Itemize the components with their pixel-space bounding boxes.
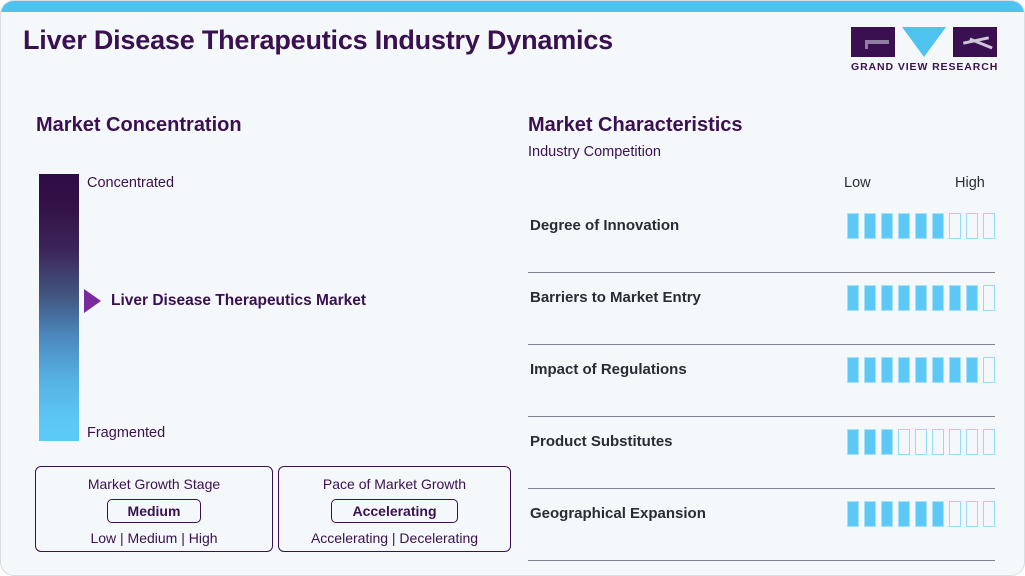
meter-scale-low-label: Low <box>844 175 871 191</box>
meter-segment-filled <box>915 213 927 239</box>
meter-segment-empty <box>983 213 995 239</box>
top-accent-bar <box>1 1 1025 12</box>
meter-segment-filled <box>847 357 859 383</box>
characteristic-label: Geographical Expansion <box>530 505 706 522</box>
meter-segment-filled <box>932 357 944 383</box>
meter-segment-filled <box>881 213 893 239</box>
r-square-icon <box>953 27 997 57</box>
meter-segment-empty <box>983 357 995 383</box>
meter-segment-filled <box>898 213 910 239</box>
characteristics-list: Degree of InnovationBarriers to Market E… <box>528 201 995 561</box>
meter-segment-filled <box>898 285 910 311</box>
market-concentration-heading: Market Concentration <box>36 114 242 137</box>
meter-segment-filled <box>898 357 910 383</box>
meter-segment-filled <box>847 213 859 239</box>
growth-stage-value: Medium <box>107 499 202 523</box>
concentration-gradient-scale <box>39 174 79 441</box>
logo-marks <box>851 27 997 57</box>
meter-segment-empty <box>915 429 927 455</box>
meter-segment-filled <box>847 501 859 527</box>
meter-segment-filled <box>932 501 944 527</box>
characteristic-row: Barriers to Market Entry <box>528 273 995 345</box>
meter-segment-filled <box>898 501 910 527</box>
characteristic-meter <box>847 285 995 311</box>
meter-segment-empty <box>898 429 910 455</box>
market-position-label: Liver Disease Therapeutics Market <box>111 292 366 310</box>
meter-segment-empty <box>983 429 995 455</box>
growth-stage-title: Market Growth Stage <box>36 475 272 493</box>
meter-segment-empty <box>966 429 978 455</box>
meter-segment-filled <box>915 501 927 527</box>
characteristic-meter <box>847 501 995 527</box>
meter-segment-filled <box>932 213 944 239</box>
characteristic-label: Barriers to Market Entry <box>530 289 701 306</box>
market-position-arrow-icon <box>84 289 101 313</box>
scale-label-concentrated: Concentrated <box>87 175 174 191</box>
meter-segment-filled <box>864 213 876 239</box>
infographic-page: Liver Disease Therapeutics Industry Dyna… <box>0 0 1025 576</box>
row-divider <box>528 560 995 561</box>
meter-segment-filled <box>847 285 859 311</box>
g-square-icon <box>851 27 895 57</box>
meter-segment-filled <box>881 429 893 455</box>
characteristic-row: Product Substitutes <box>528 417 995 489</box>
characteristic-meter <box>847 213 995 239</box>
logo-wordmark: GRAND VIEW RESEARCH <box>851 61 997 73</box>
meter-segment-filled <box>915 285 927 311</box>
meter-segment-filled <box>881 501 893 527</box>
triangle-down-icon <box>902 27 946 57</box>
growth-pace-title: Pace of Market Growth <box>279 475 510 493</box>
meter-segment-filled <box>966 285 978 311</box>
characteristic-meter <box>847 357 995 383</box>
page-title: Liver Disease Therapeutics Industry Dyna… <box>23 25 613 56</box>
meter-segment-empty <box>949 501 961 527</box>
characteristic-row: Impact of Regulations <box>528 345 995 417</box>
meter-segment-empty <box>983 285 995 311</box>
meter-segment-filled <box>864 357 876 383</box>
meter-segment-filled <box>949 285 961 311</box>
meter-scale-high-label: High <box>955 175 985 191</box>
characteristic-label: Product Substitutes <box>530 433 673 450</box>
characteristic-meter <box>847 429 995 455</box>
meter-segment-filled <box>881 357 893 383</box>
meter-segment-empty <box>949 213 961 239</box>
meter-segment-empty <box>932 429 944 455</box>
meter-segment-filled <box>864 285 876 311</box>
meter-segment-filled <box>864 429 876 455</box>
meter-segment-filled <box>949 357 961 383</box>
pace-of-market-growth-box: Pace of Market Growth Accelerating Accel… <box>278 466 511 552</box>
meter-segment-filled <box>864 501 876 527</box>
meter-segment-empty <box>966 501 978 527</box>
meter-segment-filled <box>915 357 927 383</box>
meter-segment-empty <box>949 429 961 455</box>
market-characteristics-subheading: Industry Competition <box>528 144 661 160</box>
market-growth-stage-box: Market Growth Stage Medium Low | Medium … <box>35 466 273 552</box>
meter-segment-empty <box>983 501 995 527</box>
market-characteristics-heading: Market Characteristics <box>528 114 743 137</box>
meter-segment-filled <box>847 429 859 455</box>
characteristic-row: Geographical Expansion <box>528 489 995 561</box>
brand-logo: GRAND VIEW RESEARCH <box>851 27 997 75</box>
meter-segment-filled <box>932 285 944 311</box>
meter-segment-empty <box>966 213 978 239</box>
meter-segment-filled <box>966 357 978 383</box>
characteristic-label: Impact of Regulations <box>530 361 687 378</box>
scale-label-fragmented: Fragmented <box>87 425 165 441</box>
growth-stage-scale: Low | Medium | High <box>36 530 272 546</box>
growth-pace-value: Accelerating <box>331 499 457 523</box>
characteristic-label: Degree of Innovation <box>530 217 679 234</box>
growth-pace-scale: Accelerating | Decelerating <box>279 530 510 546</box>
meter-segment-filled <box>881 285 893 311</box>
characteristic-row: Degree of Innovation <box>528 201 995 273</box>
